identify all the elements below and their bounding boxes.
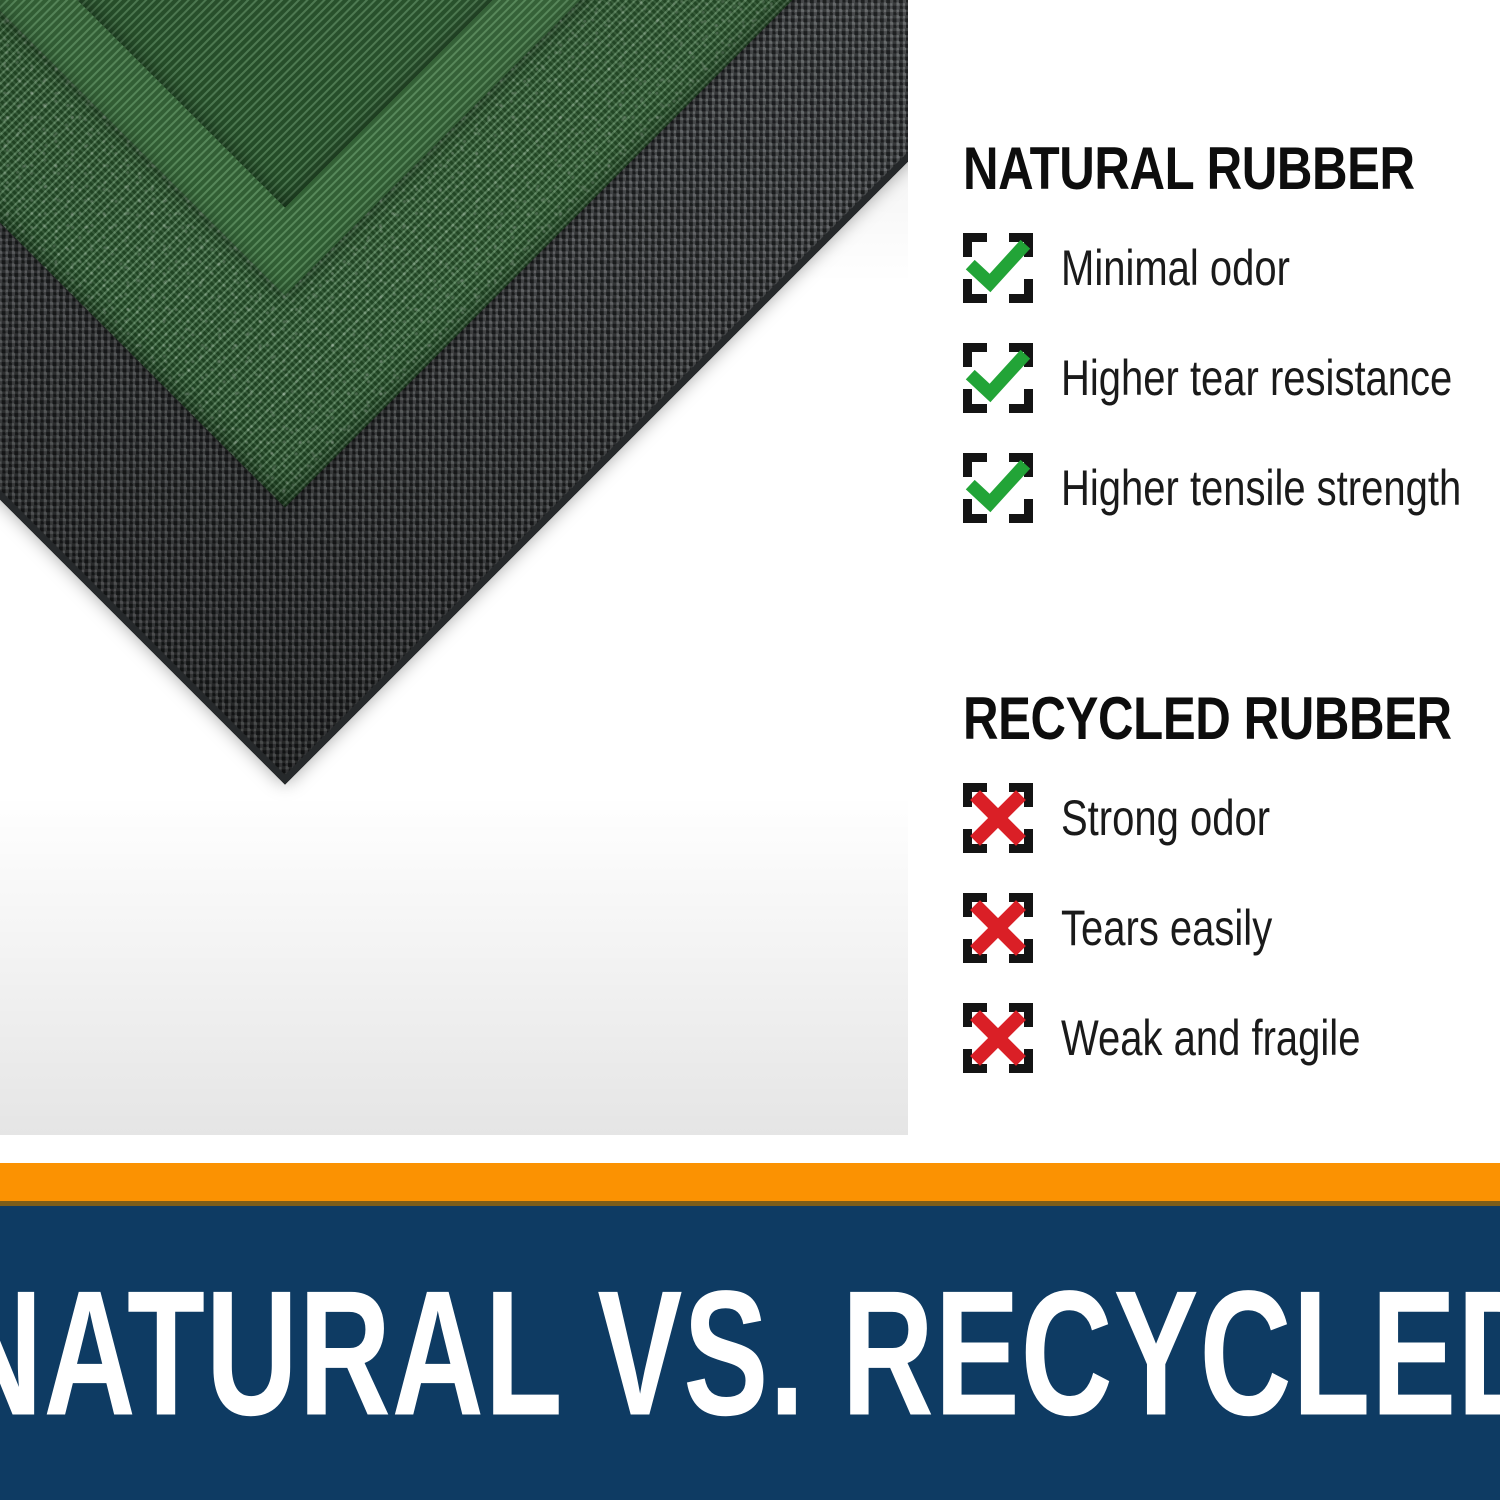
- check-frame-icon: [963, 453, 1033, 523]
- spec-group-natural-rubber: NATURAL RUBBER Minimal odor: [963, 138, 1500, 524]
- list-item-label: Strong odor: [1061, 792, 1270, 844]
- door-mat: [0, 0, 908, 785]
- infographic-root: NATURAL RUBBER Minimal odor: [0, 0, 1500, 1500]
- spec-group-recycled-rubber: RECYCLED RUBBER Strong odor: [963, 688, 1500, 1074]
- banner-title-wrap: NATURAL VS. RECYCLED: [0, 1206, 1500, 1500]
- group-title-recycled-rubber: RECYCLED RUBBER: [963, 688, 1406, 750]
- group-title-natural-rubber: NATURAL RUBBER: [963, 138, 1406, 200]
- list-item-label: Higher tensile strength: [1061, 462, 1461, 514]
- feature-list-recycled: Strong odor Tears easily: [963, 782, 1500, 1074]
- list-item: Weak and fragile: [963, 1002, 1500, 1074]
- check-icon: [963, 343, 1033, 413]
- cross-frame-icon: [963, 1003, 1033, 1073]
- check-icon: [963, 453, 1033, 523]
- list-item-label: Minimal odor: [1061, 242, 1290, 294]
- cross-frame-icon: [963, 893, 1033, 963]
- list-item: Strong odor: [963, 782, 1500, 854]
- check-frame-icon: [963, 233, 1033, 303]
- list-item-label: Higher tear resistance: [1061, 352, 1452, 404]
- bottom-banner: NATURAL VS. RECYCLED: [0, 1206, 1500, 1500]
- list-item: Higher tear resistance: [963, 342, 1500, 414]
- banner-title: NATURAL VS. RECYCLED: [0, 1251, 1500, 1456]
- list-item-label: Tears easily: [1061, 902, 1272, 954]
- accent-stripe: [0, 1163, 1500, 1201]
- cross-icon: [963, 783, 1033, 853]
- feature-list-natural: Minimal odor Higher tear resistance: [963, 232, 1500, 524]
- list-item: Tears easily: [963, 892, 1500, 964]
- product-photo: [0, 0, 908, 1135]
- cross-icon: [963, 1003, 1033, 1073]
- list-item: Minimal odor: [963, 232, 1500, 304]
- cross-frame-icon: [963, 783, 1033, 853]
- check-frame-icon: [963, 343, 1033, 413]
- check-icon: [963, 233, 1033, 303]
- list-item: Higher tensile strength: [963, 452, 1500, 524]
- spec-column: NATURAL RUBBER Minimal odor: [908, 0, 1500, 1135]
- list-item-label: Weak and fragile: [1061, 1012, 1360, 1064]
- cross-icon: [963, 893, 1033, 963]
